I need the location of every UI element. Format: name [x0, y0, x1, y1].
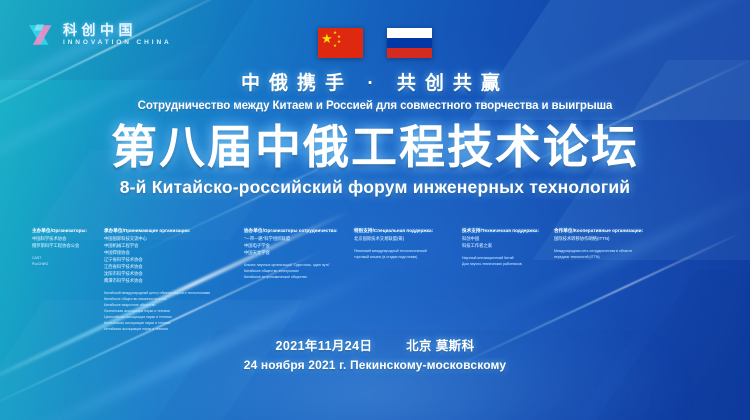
- organizer-column-heading: 特别支持/Специальная поддержка:: [354, 228, 462, 234]
- organizer-column-heading: 合作单位/Кооперативные организации:: [554, 228, 728, 234]
- organizer-list-ru: Китайский международный центр обмена нау…: [104, 290, 244, 332]
- organizer-item: 中国天文学会: [244, 250, 354, 257]
- logo: 科创中国 INNOVATION CHINA: [26, 20, 172, 50]
- flag-stripe-white: [387, 28, 432, 38]
- organizer-column: 合作单位/Кооперативные организации:国际技术转移协作网…: [554, 228, 728, 260]
- organizer-item: торговый альянс (в стадии подготовки): [354, 254, 462, 260]
- organizer-item: 科技工作者之家: [462, 243, 554, 250]
- organizer-column: 技术支持/Техническая поддержка:科创中国科技工作者之家На…: [462, 228, 554, 267]
- event-date-ru: 24 ноября 2021 г. Пекинскому-московскому: [0, 358, 750, 372]
- organizer-column: 主办单位/Организаторы:中国科学技术协会俄罗斯科学工程协会公会CAS…: [32, 228, 104, 267]
- organizer-item: Дом научно-технических работников: [462, 261, 554, 267]
- organizer-item: 鹰潭市科学技术协会: [104, 278, 244, 285]
- flag-star-large: ★: [321, 32, 333, 45]
- flag-star-small: ★: [337, 40, 341, 45]
- organizer-list-cn: 国际技术转移协作网络(ITTN): [554, 236, 728, 243]
- flag-star-small: ★: [333, 44, 337, 49]
- organizer-list-ru: CASTРосСНИО: [32, 255, 104, 267]
- organizer-list-cn: "一带一路"科学组织联盟中国电子学会中国天文学会: [244, 236, 354, 257]
- flag-stripe-red: [387, 48, 432, 58]
- china-flag: ★ ★ ★ ★ ★: [318, 28, 363, 58]
- russia-flag: [387, 28, 432, 58]
- flag-stripe-blue: [387, 38, 432, 48]
- organizer-list-ru: Альянс научных организаций "Один пояс, о…: [244, 262, 354, 280]
- organizer-item: 江西省科学技术协会: [104, 264, 244, 271]
- flags-row: ★ ★ ★ ★ ★: [318, 28, 432, 58]
- footer-block: 2021年11月24日 北京 莫斯科 24 ноября 2021 г. Пек…: [0, 335, 750, 372]
- organizer-list-cn: 中国国际科技交流中心中国机械工程学会中国焊接协会辽宁省科学技术协会江西省科学技术…: [104, 236, 244, 285]
- organizer-item: Китайское астрономическое общество: [244, 274, 354, 280]
- logo-text: 科创中国 INNOVATION CHINA: [63, 23, 172, 47]
- organizer-column: 协办单位/Организаторы сотрудничества:"一带一路"科…: [244, 228, 354, 280]
- event-date-cn-text: 2021年11月24日: [276, 339, 373, 353]
- organizer-list-ru: Научный инновационный КитайДом научно-те…: [462, 255, 554, 267]
- organizer-list-cn: 科创中国科技工作者之家: [462, 236, 554, 250]
- tagline-cn: 中俄携手 · 共创共赢: [0, 74, 750, 95]
- organizer-item: 俄罗斯科学工程协会公会: [32, 243, 104, 250]
- organizer-item: Интайская ассоциация науки и техники: [104, 326, 244, 332]
- event-cities-cn: 北京 莫斯科: [406, 339, 474, 353]
- innovation-china-logo-mark: [26, 20, 56, 50]
- conference-banner: 科创中国 INNOVATION CHINA ★ ★ ★ ★ ★ 中俄携手 · 共…: [0, 0, 750, 420]
- organizer-item: РосСНИО: [32, 261, 104, 267]
- organizer-column-heading: 协办单位/Организаторы сотрудничества:: [244, 228, 354, 234]
- tagline-ru: Сотрудничество между Китаем и Россией дл…: [0, 100, 750, 112]
- organizer-column: 特别支持/Специальная поддержка:北京国际技术交易联盟(筹)…: [354, 228, 462, 260]
- event-date-cn: 2021年11月24日 北京 莫斯科: [0, 335, 750, 354]
- organizer-list-cn: 中国科学技术协会俄罗斯科学工程协会公会: [32, 236, 104, 250]
- organizer-item: передачи технологий (ITTN): [554, 254, 728, 260]
- organizer-column-heading: 承办单位/Принимающие организации:: [104, 228, 244, 234]
- organizer-item: 沈阳市科学技术协会: [104, 271, 244, 278]
- main-title-ru: 8-й Китайско-российский форум инженерных…: [0, 177, 750, 198]
- headline-block: 中俄携手 · 共创共赢 Сотрудничество между Китаем …: [0, 74, 750, 198]
- organizer-list-ru: Пекинский международный технологическийт…: [354, 248, 462, 260]
- organizer-list-cn: 北京国际技术交易联盟(筹): [354, 236, 462, 243]
- organizer-list-ru: Международная сеть сотрудничества в обла…: [554, 248, 728, 260]
- organizer-item: 北京国际技术交易联盟(筹): [354, 236, 462, 243]
- logo-title-en: INNOVATION CHINA: [63, 40, 172, 47]
- organizer-column-heading: 主办单位/Организаторы:: [32, 228, 104, 234]
- organizer-column-heading: 技术支持/Техническая поддержка:: [462, 228, 554, 234]
- main-title-cn: 第八届中俄工程技术论坛: [0, 122, 750, 174]
- organizer-item: 国际技术转移协作网络(ITTN): [554, 236, 728, 243]
- organizer-item: 中国焊接协会: [104, 250, 244, 257]
- organizers-row: 主办单位/Организаторы:中国科学技术协会俄罗斯科学工程协会公会CAS…: [32, 228, 728, 332]
- logo-title-cn: 科创中国: [63, 23, 172, 37]
- organizer-column: 承办单位/Принимающие организации:中国国际科技交流中心中…: [104, 228, 244, 332]
- organizer-item: 辽宁省科学技术协会: [104, 257, 244, 264]
